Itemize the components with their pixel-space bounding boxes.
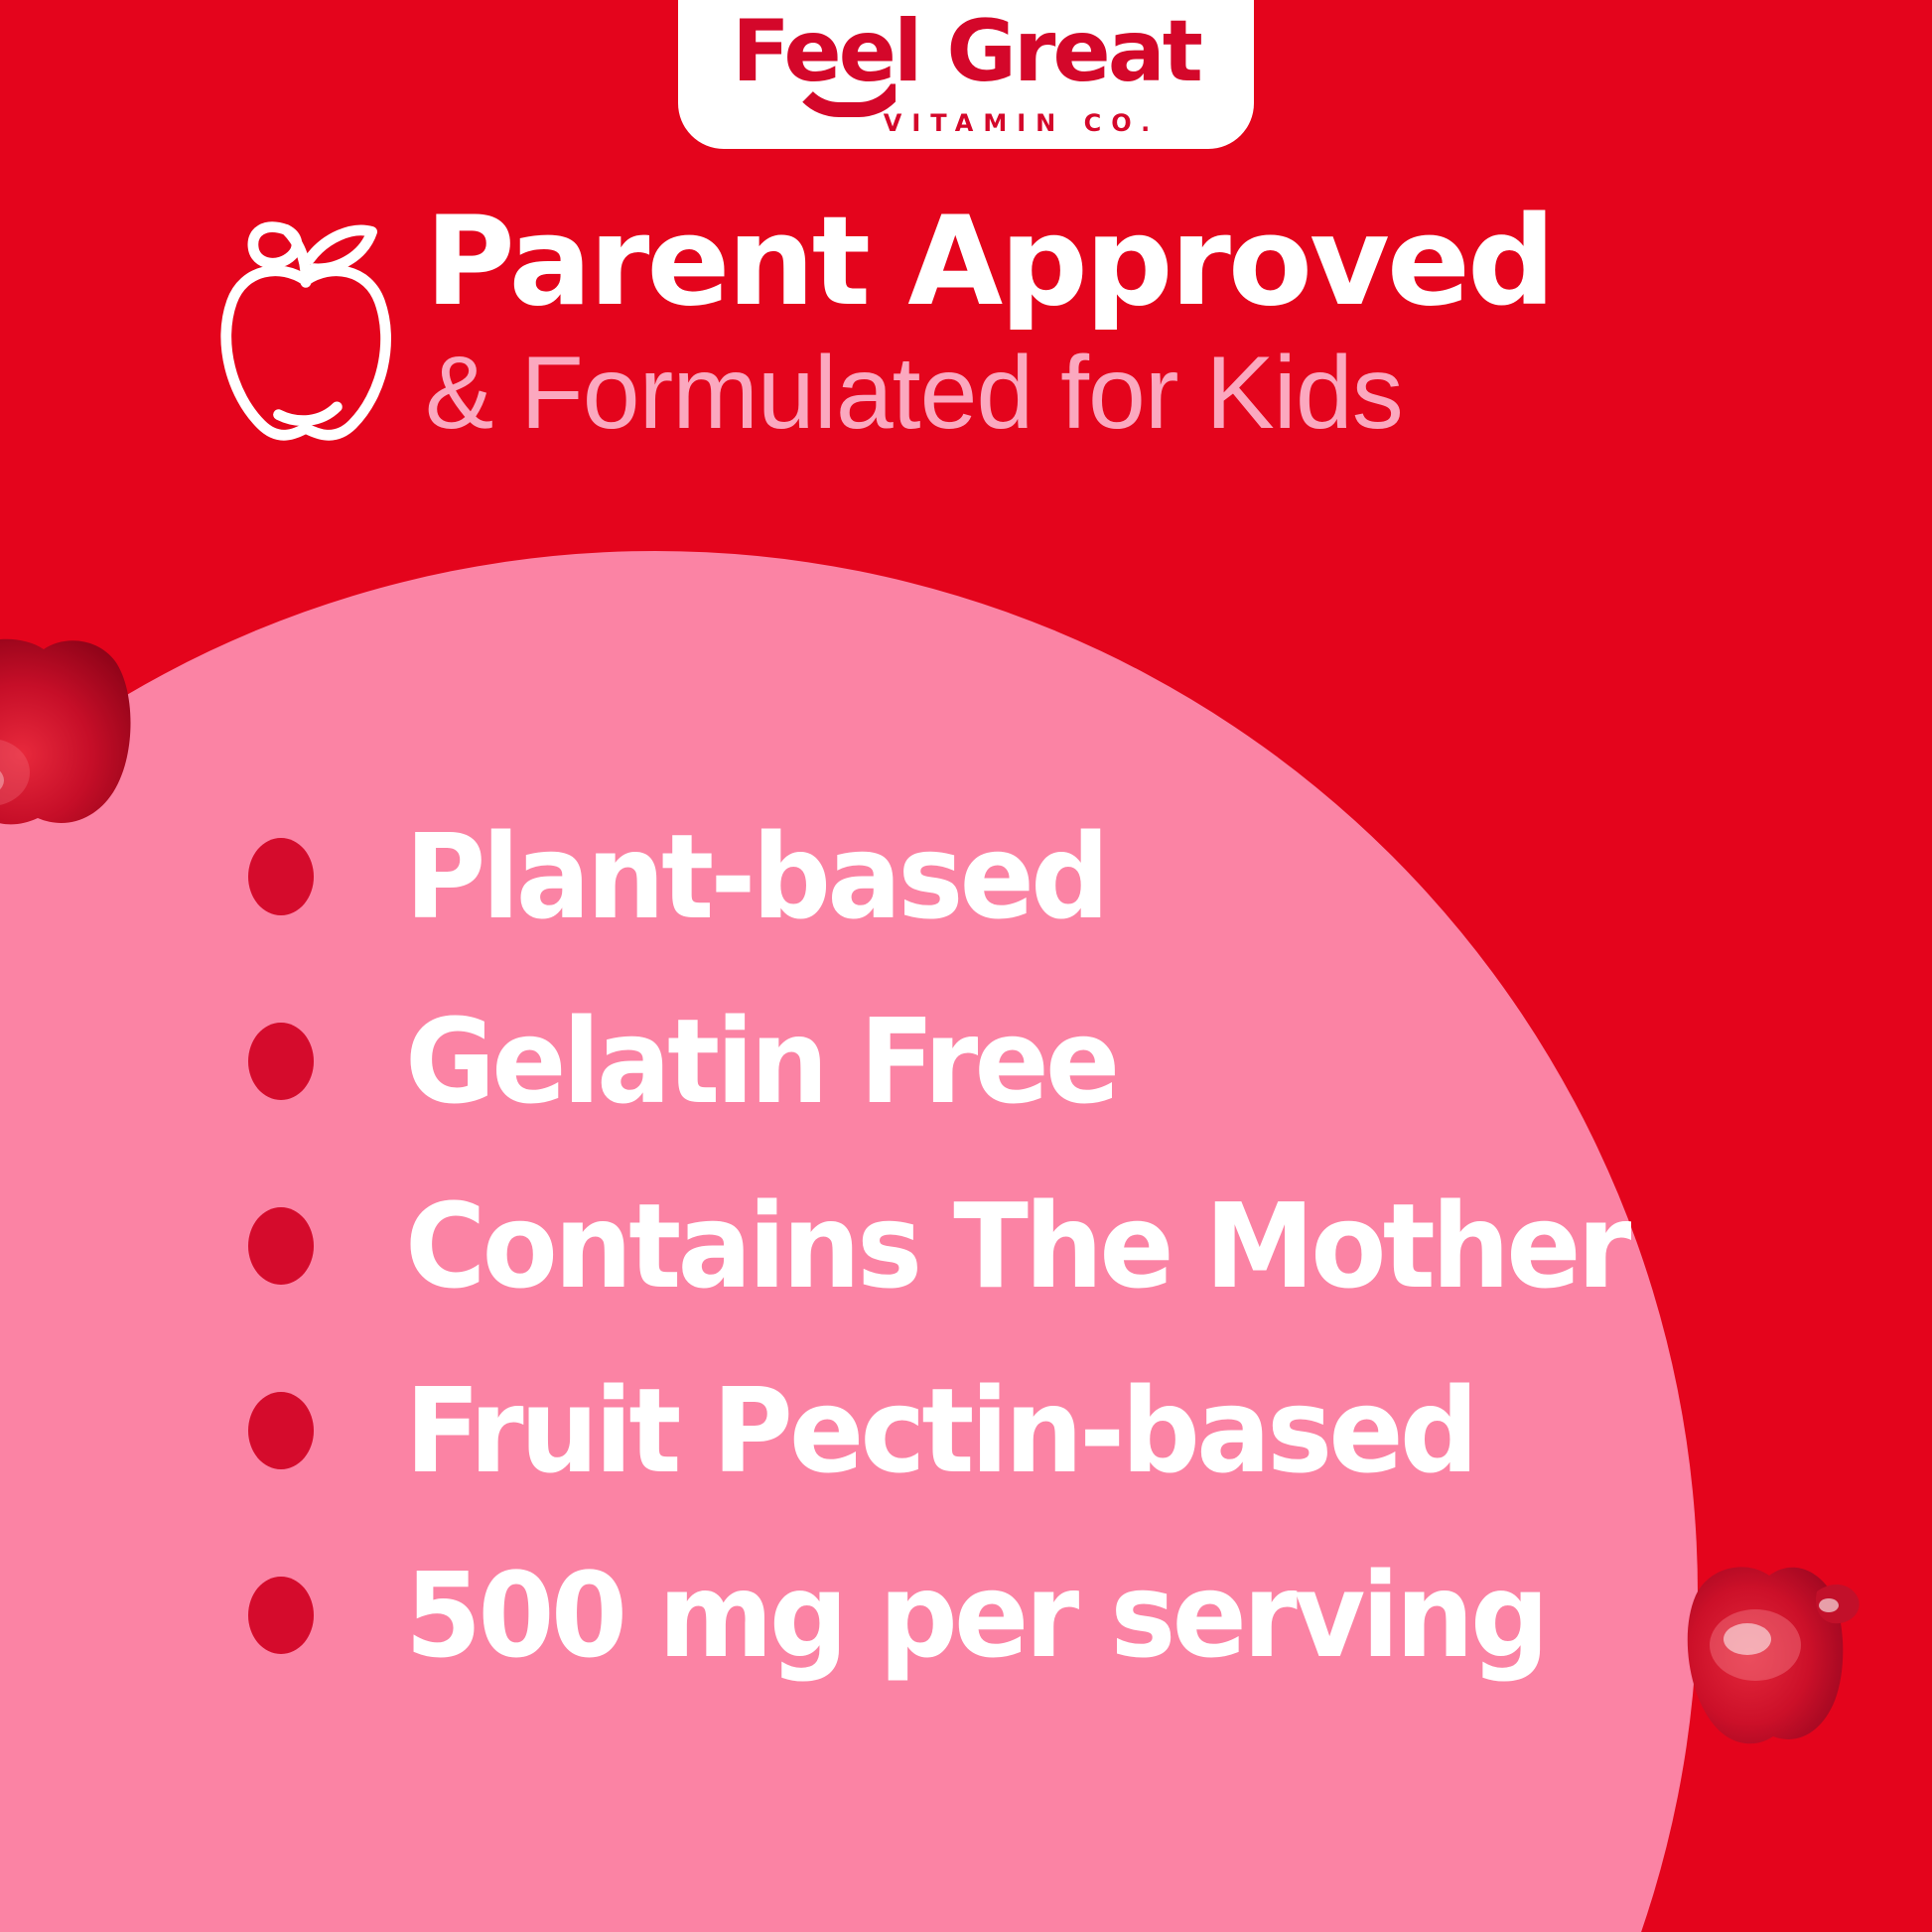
list-item: Plant-based xyxy=(248,784,1837,969)
bullet-dot-icon xyxy=(248,1392,314,1469)
bullet-dot-icon xyxy=(248,1023,314,1100)
logo-tagline: VITAMIN CO. xyxy=(884,109,1160,137)
hand-drawn-apple-outline-icon xyxy=(208,205,403,451)
page-subtitle: & Formulated for Kids xyxy=(425,338,1857,449)
bullet-dot-icon xyxy=(248,1207,314,1285)
list-item: 500 mg per serving xyxy=(248,1523,1837,1708)
bullet-dot-icon xyxy=(248,1577,314,1654)
benefit-label: 500 mg per serving xyxy=(405,1557,1546,1674)
list-item: Gelatin Free xyxy=(248,969,1837,1154)
header-block: Parent Approved & Formulated for Kids xyxy=(208,195,1857,451)
benefit-label: Fruit Pectin-based xyxy=(405,1372,1475,1489)
promo-graphic: Feel Great VITAMIN CO. Parent Approved &… xyxy=(0,0,1932,1932)
list-item: Contains The Mother xyxy=(248,1154,1837,1338)
brand-logo-badge: Feel Great VITAMIN CO. xyxy=(678,0,1254,149)
logo-wordmark: Feel Great xyxy=(732,13,1200,91)
benefit-label: Gelatin Free xyxy=(405,1003,1116,1120)
list-item: Fruit Pectin-based xyxy=(248,1338,1837,1523)
benefit-label: Contains The Mother xyxy=(405,1187,1628,1305)
page-title: Parent Approved xyxy=(425,201,1857,324)
apple-gummy-icon xyxy=(0,631,148,835)
bullet-dot-icon xyxy=(248,838,314,915)
benefit-label: Plant-based xyxy=(405,818,1106,935)
benefit-list: Plant-based Gelatin Free Contains The Mo… xyxy=(248,784,1837,1708)
apple-gummy-icon xyxy=(1678,1554,1866,1752)
